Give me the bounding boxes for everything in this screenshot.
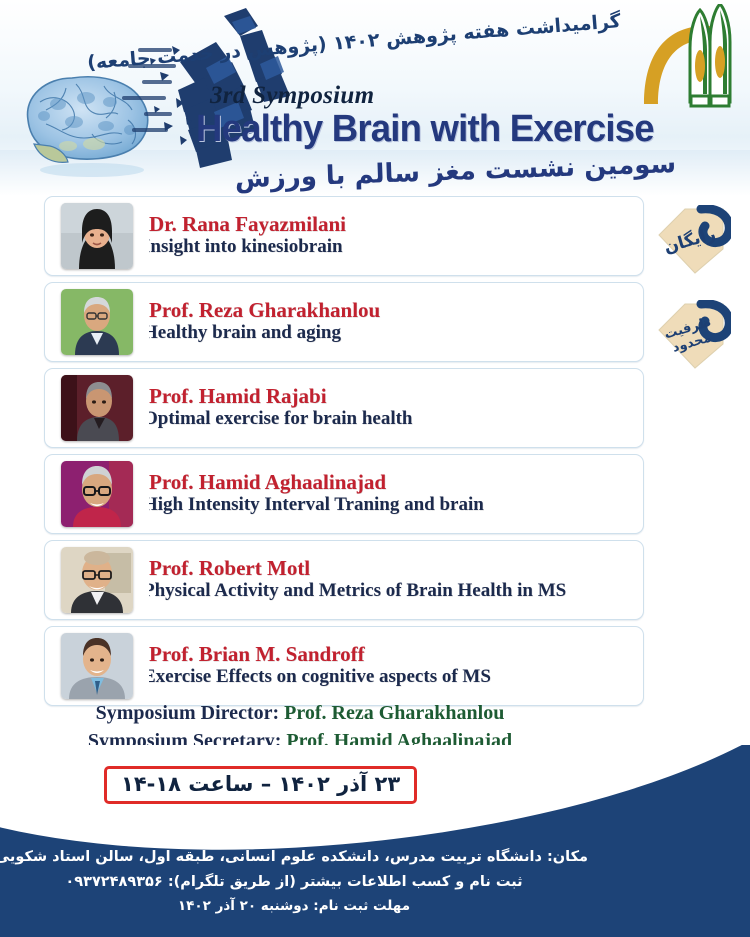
speaker-text: Prof. Hamid Rajabi Optimal exercise for …	[149, 385, 643, 431]
speaker-card[interactable]: Prof. Brian M. Sandroff Exercise Effects…	[44, 626, 644, 706]
symposium-director-label: Symposium Director:	[96, 702, 280, 724]
poster-root: گرامیداشت هفته پژوهش ۱۴۰۲ (پژوهش در خدمت…	[0, 0, 750, 937]
speaker-name: Prof. Reza Gharakhanlou	[149, 299, 643, 322]
speaker-topic: High Intensity Interval Traning and brai…	[149, 494, 643, 517]
speaker-photo-reza-gharakhanlou	[61, 289, 133, 355]
event-date-badge: ۲۳ آذر ۱۴۰۲ – ساعت ۱۸-۱۴	[104, 766, 417, 804]
speaker-card[interactable]: Prof. Robert Motl Physical Activity and …	[44, 540, 644, 620]
speaker-photo-hamid-aghaalinajad	[61, 461, 133, 527]
speaker-card[interactable]: Prof. Hamid Aghaalinajad High Intensity …	[44, 454, 644, 534]
speaker-topic: Exercise Effects on cognitive aspects of…	[149, 666, 643, 689]
speaker-photo-brian-m-sandroff	[61, 633, 133, 699]
speaker-list: Dr. Rana Fayazmilani Insight into kinesi…	[44, 196, 644, 712]
speaker-name: Prof. Robert Motl	[149, 557, 643, 580]
speaker-name: Prof. Brian M. Sandroff	[149, 643, 643, 666]
speaker-topic: Healthy brain and aging	[149, 322, 643, 345]
speaker-text: Prof. Brian M. Sandroff Exercise Effects…	[149, 643, 643, 689]
speaker-text: Prof. Hamid Aghaalinajad High Intensity …	[149, 471, 643, 517]
speaker-topic: Physical Activity and Metrics of Brain H…	[149, 580, 643, 603]
badge-limited-capacity: ظرفیت محدود	[655, 300, 731, 372]
tarbiat-modares-university-logo	[634, 4, 742, 108]
speaker-name: Dr. Rana Fayazmilani	[149, 213, 643, 236]
symposium-ordinal: 3rd Symposium	[210, 82, 374, 110]
speaker-photo-rana-fayazmilani	[61, 203, 133, 269]
symposium-director-line: Symposium Director: Prof. Reza Gharakhan…	[0, 700, 600, 728]
symposium-director-name: Prof. Reza Gharakhanlou	[284, 702, 504, 724]
speaker-photo-robert-motl	[61, 547, 133, 613]
speaker-card[interactable]: Dr. Rana Fayazmilani Insight into kinesi…	[44, 196, 644, 276]
speaker-text: Dr. Rana Fayazmilani Insight into kinesi…	[149, 213, 643, 259]
speaker-name: Prof. Hamid Rajabi	[149, 385, 643, 408]
deadline-line: مهلت ثبت نام: دوشنبه ۲۰ آذر ۱۴۰۲	[0, 895, 588, 918]
speaker-name: Prof. Hamid Aghaalinajad	[149, 471, 643, 494]
speaker-photo-hamid-rajabi	[61, 375, 133, 441]
venue-line: مکان: دانشگاه تربیت مدرس، دانشکده علوم ا…	[0, 845, 588, 870]
speaker-topic: Optimal exercise for brain health	[149, 408, 643, 431]
footer-info: مکان: دانشگاه تربیت مدرس، دانشکده علوم ا…	[0, 845, 588, 918]
registration-line: ثبت نام و کسب اطلاعات بیشتر (از طریق تلگ…	[0, 870, 588, 895]
badge-free: رایگان	[655, 205, 731, 277]
speaker-card[interactable]: Prof. Hamid Rajabi Optimal exercise for …	[44, 368, 644, 448]
speaker-text: Prof. Reza Gharakhanlou Healthy brain an…	[149, 299, 643, 345]
page-title: Healthy Brain with Exercise	[196, 108, 676, 151]
speaker-text: Prof. Robert Motl Physical Activity and …	[149, 557, 643, 603]
poster-header: گرامیداشت هفته پژوهش ۱۴۰۲ (پژوهش در خدمت…	[0, 0, 750, 196]
speaker-topic: Insight into kinesiobrain	[149, 236, 643, 259]
speaker-card[interactable]: Prof. Reza Gharakhanlou Healthy brain an…	[44, 282, 644, 362]
